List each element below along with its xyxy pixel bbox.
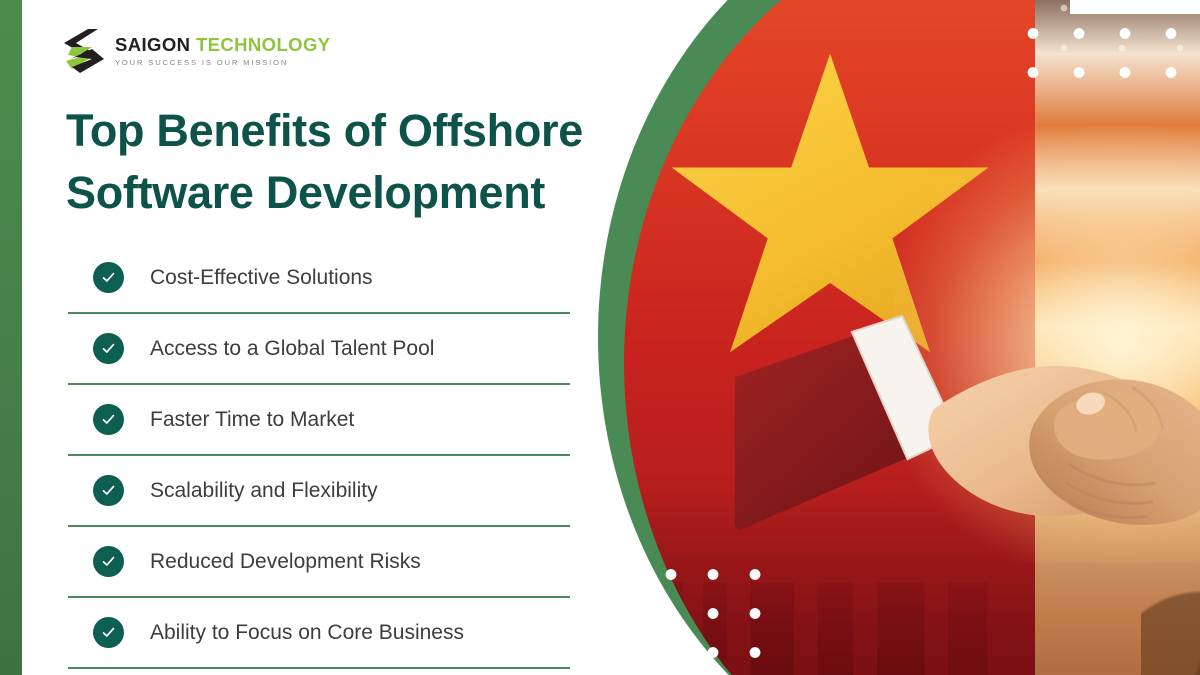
slide-canvas: SAIGON TECHNOLOGY YOUR SUCCESS IS OUR MI…	[0, 0, 1200, 675]
corner-fade-mask	[1070, 0, 1200, 14]
page-title-line-2: Software Development	[66, 162, 666, 224]
handshake-illustration	[735, 145, 1200, 673]
check-icon	[93, 546, 124, 577]
check-icon	[93, 333, 124, 364]
list-item[interactable]: Access to a Global Talent Pool	[68, 314, 570, 385]
brand-logo[interactable]: SAIGON TECHNOLOGY YOUR SUCCESS IS OUR MI…	[62, 26, 330, 76]
logo-name-secondary: TECHNOLOGY	[196, 34, 331, 55]
list-item[interactable]: Scalability and Flexibility	[68, 456, 570, 527]
list-item-label: Faster Time to Market	[150, 407, 354, 432]
left-accent-strip	[0, 0, 22, 675]
page-title-line-1: Top Benefits of Offshore	[66, 100, 666, 162]
check-icon	[93, 404, 124, 435]
dot-grid-top-right-icon	[1010, 14, 1200, 92]
list-item[interactable]: Cost-Effective Solutions	[68, 243, 570, 314]
check-icon	[93, 262, 124, 293]
logo-chevron-icon	[62, 27, 106, 75]
list-item[interactable]: Ability to Focus on Core Business	[68, 598, 570, 669]
list-item-label: Scalability and Flexibility	[150, 478, 378, 503]
list-item[interactable]: Reduced Development Risks	[68, 527, 570, 598]
logo-name-line: SAIGON TECHNOLOGY	[115, 35, 330, 54]
list-item[interactable]: Faster Time to Market	[68, 385, 570, 456]
list-item-label: Access to a Global Talent Pool	[150, 336, 434, 361]
artwork-panel	[590, 0, 1200, 675]
list-item-label: Reduced Development Risks	[150, 549, 421, 574]
logo-name-primary: SAIGON	[115, 34, 190, 55]
logo-tagline: YOUR SUCCESS IS OUR MISSION	[115, 58, 330, 67]
list-item-label: Ability to Focus on Core Business	[150, 620, 464, 645]
page-title: Top Benefits of Offshore Software Develo…	[66, 100, 666, 224]
list-item-label: Cost-Effective Solutions	[150, 265, 373, 290]
dot-grid-bottom-left-icon	[608, 555, 768, 675]
check-icon	[93, 617, 124, 648]
check-icon	[93, 475, 124, 506]
benefits-list: Cost-Effective Solutions Access to a Glo…	[68, 243, 570, 669]
logo-wordmark: SAIGON TECHNOLOGY YOUR SUCCESS IS OUR MI…	[115, 35, 330, 66]
